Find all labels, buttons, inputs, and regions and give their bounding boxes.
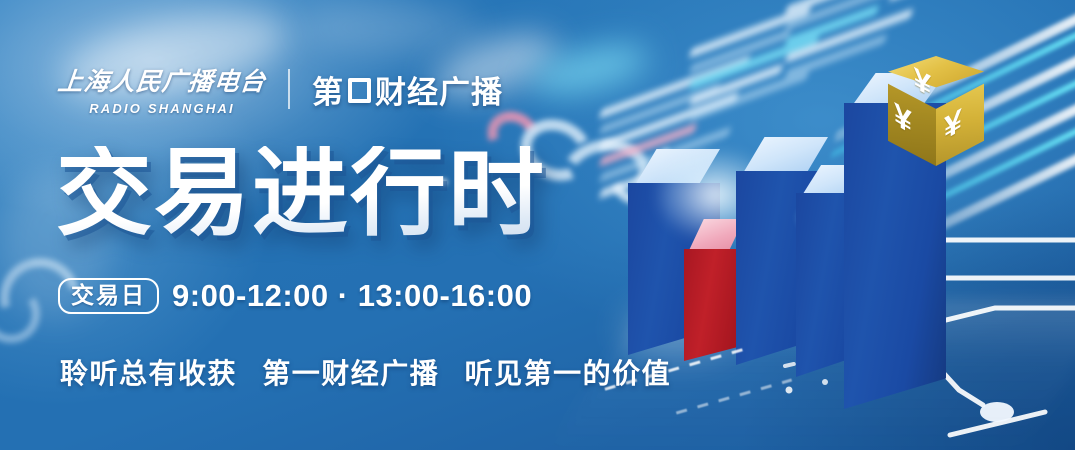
gold-yen-cube-icon: ¥ ¥ ¥ bbox=[884, 56, 988, 168]
broadcast-hours: 9:00-12:00 · 13:00-16:00 bbox=[172, 278, 532, 314]
tagline-part-3: 听见第一的价值 bbox=[465, 358, 672, 389]
yen-symbol-left: ¥ bbox=[894, 97, 912, 139]
yen-symbol-top: ¥ bbox=[914, 63, 932, 102]
promo-banner: ¥ ¥ ¥ 上海人民广播电台 RADIO SHANGHAI 第 财经广播 交易进… bbox=[0, 0, 1075, 450]
page-title: 交易进行时 bbox=[56, 146, 546, 242]
trading-day-badge: 交易日 bbox=[58, 278, 159, 313]
floor-dash-line bbox=[676, 379, 792, 415]
tagline-part-2: 第一财经广播 bbox=[262, 358, 439, 389]
station-logo[interactable]: 上海人民广播电台 RADIO SHANGHAI 第 财经广播 bbox=[58, 62, 503, 116]
schedule-row: 交易日 9:00-12:00 · 13:00-16:00 bbox=[58, 278, 532, 314]
tagline: 聆听总有收获 第一财经广播 听见第一的价值 bbox=[60, 352, 671, 392]
station-name-en: RADIO SHANGHAI bbox=[89, 101, 235, 116]
chart-bar-red bbox=[684, 249, 744, 361]
channel-name-prefix: 第 bbox=[312, 67, 344, 112]
channel-logo: 第 财经广播 bbox=[312, 67, 503, 112]
channel-name-suffix: 财经广播 bbox=[375, 67, 503, 112]
soft-glow-shape bbox=[300, 0, 480, 55]
square-one-glyph-icon bbox=[348, 78, 371, 103]
radio-shanghai-logo: 上海人民广播电台 RADIO SHANGHAI bbox=[58, 62, 266, 116]
station-name-cn: 上海人民广播电台 bbox=[56, 62, 268, 98]
vertical-divider-icon bbox=[288, 69, 290, 109]
tagline-part-1: 聆听总有收获 bbox=[60, 358, 237, 389]
